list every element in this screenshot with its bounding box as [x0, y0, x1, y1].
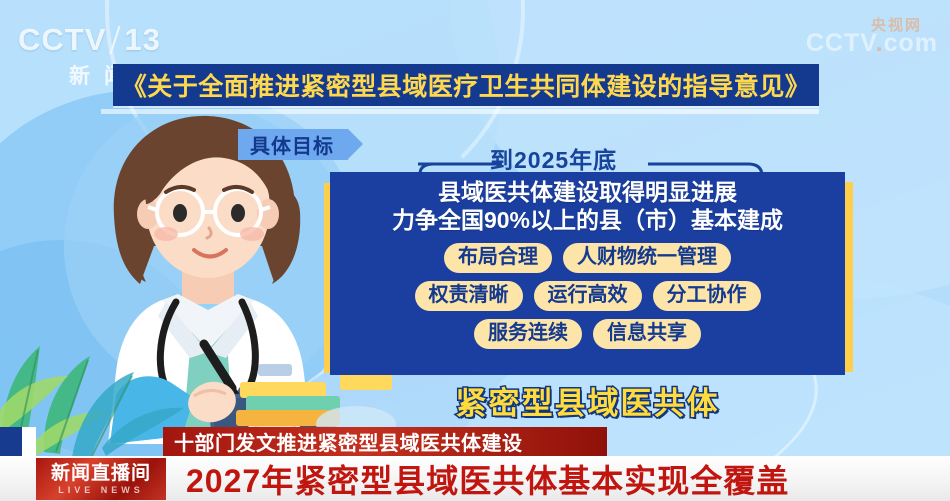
ticker-left-strip-white: [22, 427, 36, 456]
deadline-label: 到2025年底: [490, 141, 617, 175]
specific-goals-label: 具体目标: [250, 130, 334, 159]
broadcast-screen: CCTV 13 新闻 央视网 CCTV.com: [0, 0, 950, 501]
goals-panel: 县域医共体建设取得明显进展 力争全国90%以上的县（市）基本建成 布局合理 人财…: [330, 172, 845, 375]
pill-item: 人财物统一管理: [563, 243, 731, 273]
document-title-underline: [101, 109, 819, 114]
pill-item: 信息共享: [593, 319, 701, 349]
program-badge: 新闻直播间 LIVE NEWS: [36, 458, 166, 500]
ticker-headline: 2027年紧密型县域医共体基本实现全覆盖: [186, 459, 789, 499]
pill-row-1: 布局合理 人财物统一管理: [330, 243, 845, 273]
ticker-headline-text: 2027年紧密型县域医共体基本实现全覆盖: [186, 456, 789, 501]
document-title-band: 《关于全面推进紧密型县域医疗卫生共同体建设的指导意见》: [113, 64, 819, 106]
pill-item: 权责清晰: [415, 281, 523, 311]
pill-item: 布局合理: [444, 243, 552, 273]
ticker-topic-text: 十部门发文推进紧密型县域医共体建设: [174, 427, 523, 456]
goal-line-1: 县域医共体建设取得明显进展: [330, 179, 845, 206]
program-badge-chinese: 新闻直播间: [51, 464, 151, 483]
pill-item: 运行高效: [534, 281, 642, 311]
pill-item: 分工协作: [653, 281, 761, 311]
program-badge-english: LIVE NEWS: [58, 486, 144, 495]
pill-row-3: 服务连续 信息共享: [330, 319, 845, 349]
specific-goals-tag: 具体目标: [238, 129, 348, 160]
goal-line-2: 力争全国90%以上的县（市）基本建成: [330, 207, 845, 234]
pill-item: 服务连续: [474, 319, 582, 349]
ticker-topic-bar: 十部门发文推进紧密型县域医共体建设: [163, 427, 607, 456]
concept-title: 紧密型县域医共体: [330, 378, 845, 423]
pill-row-2: 权责清晰 运行高效 分工协作: [330, 281, 845, 311]
ticker-left-strip-blue: [0, 427, 22, 456]
document-title-text: 《关于全面推进紧密型县域医疗卫生共同体建设的指导意见》: [122, 67, 811, 103]
